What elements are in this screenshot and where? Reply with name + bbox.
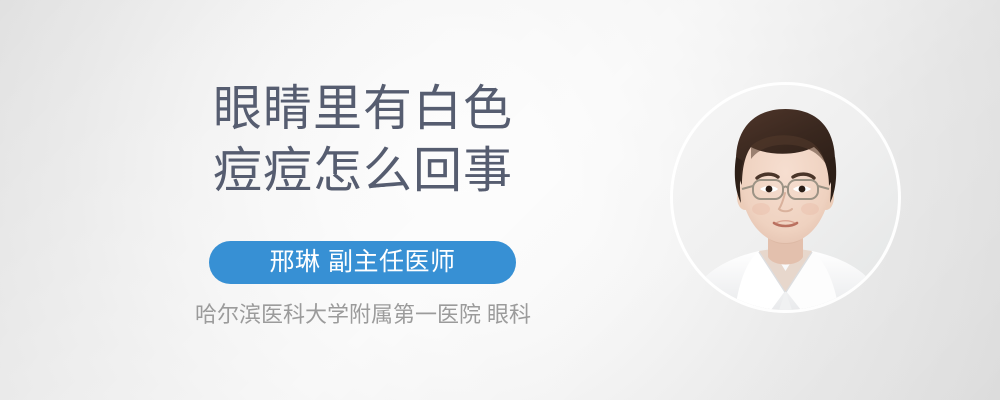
doctor-portrait-avatar bbox=[673, 85, 898, 310]
doctor-credential-label: 邢琳 副主任医师 bbox=[270, 250, 456, 275]
doctor-video-cover-card: 眼睛里有白色 痘痘怎么回事 邢琳 副主任医师 哈尔滨医科大学附属第一医院 眼科 bbox=[0, 0, 1000, 400]
doctor-credential-badge[interactable]: 邢琳 副主任医师 bbox=[209, 241, 516, 284]
doctor-affiliation: 哈尔滨医科大学附属第一医院 眼科 bbox=[178, 301, 548, 329]
page-title: 眼睛里有白色 痘痘怎么回事 bbox=[213, 78, 633, 202]
text-block: 眼睛里有白色 痘痘怎么回事 邢琳 副主任医师 哈尔滨医科大学附属第一医院 眼科 bbox=[0, 0, 660, 400]
